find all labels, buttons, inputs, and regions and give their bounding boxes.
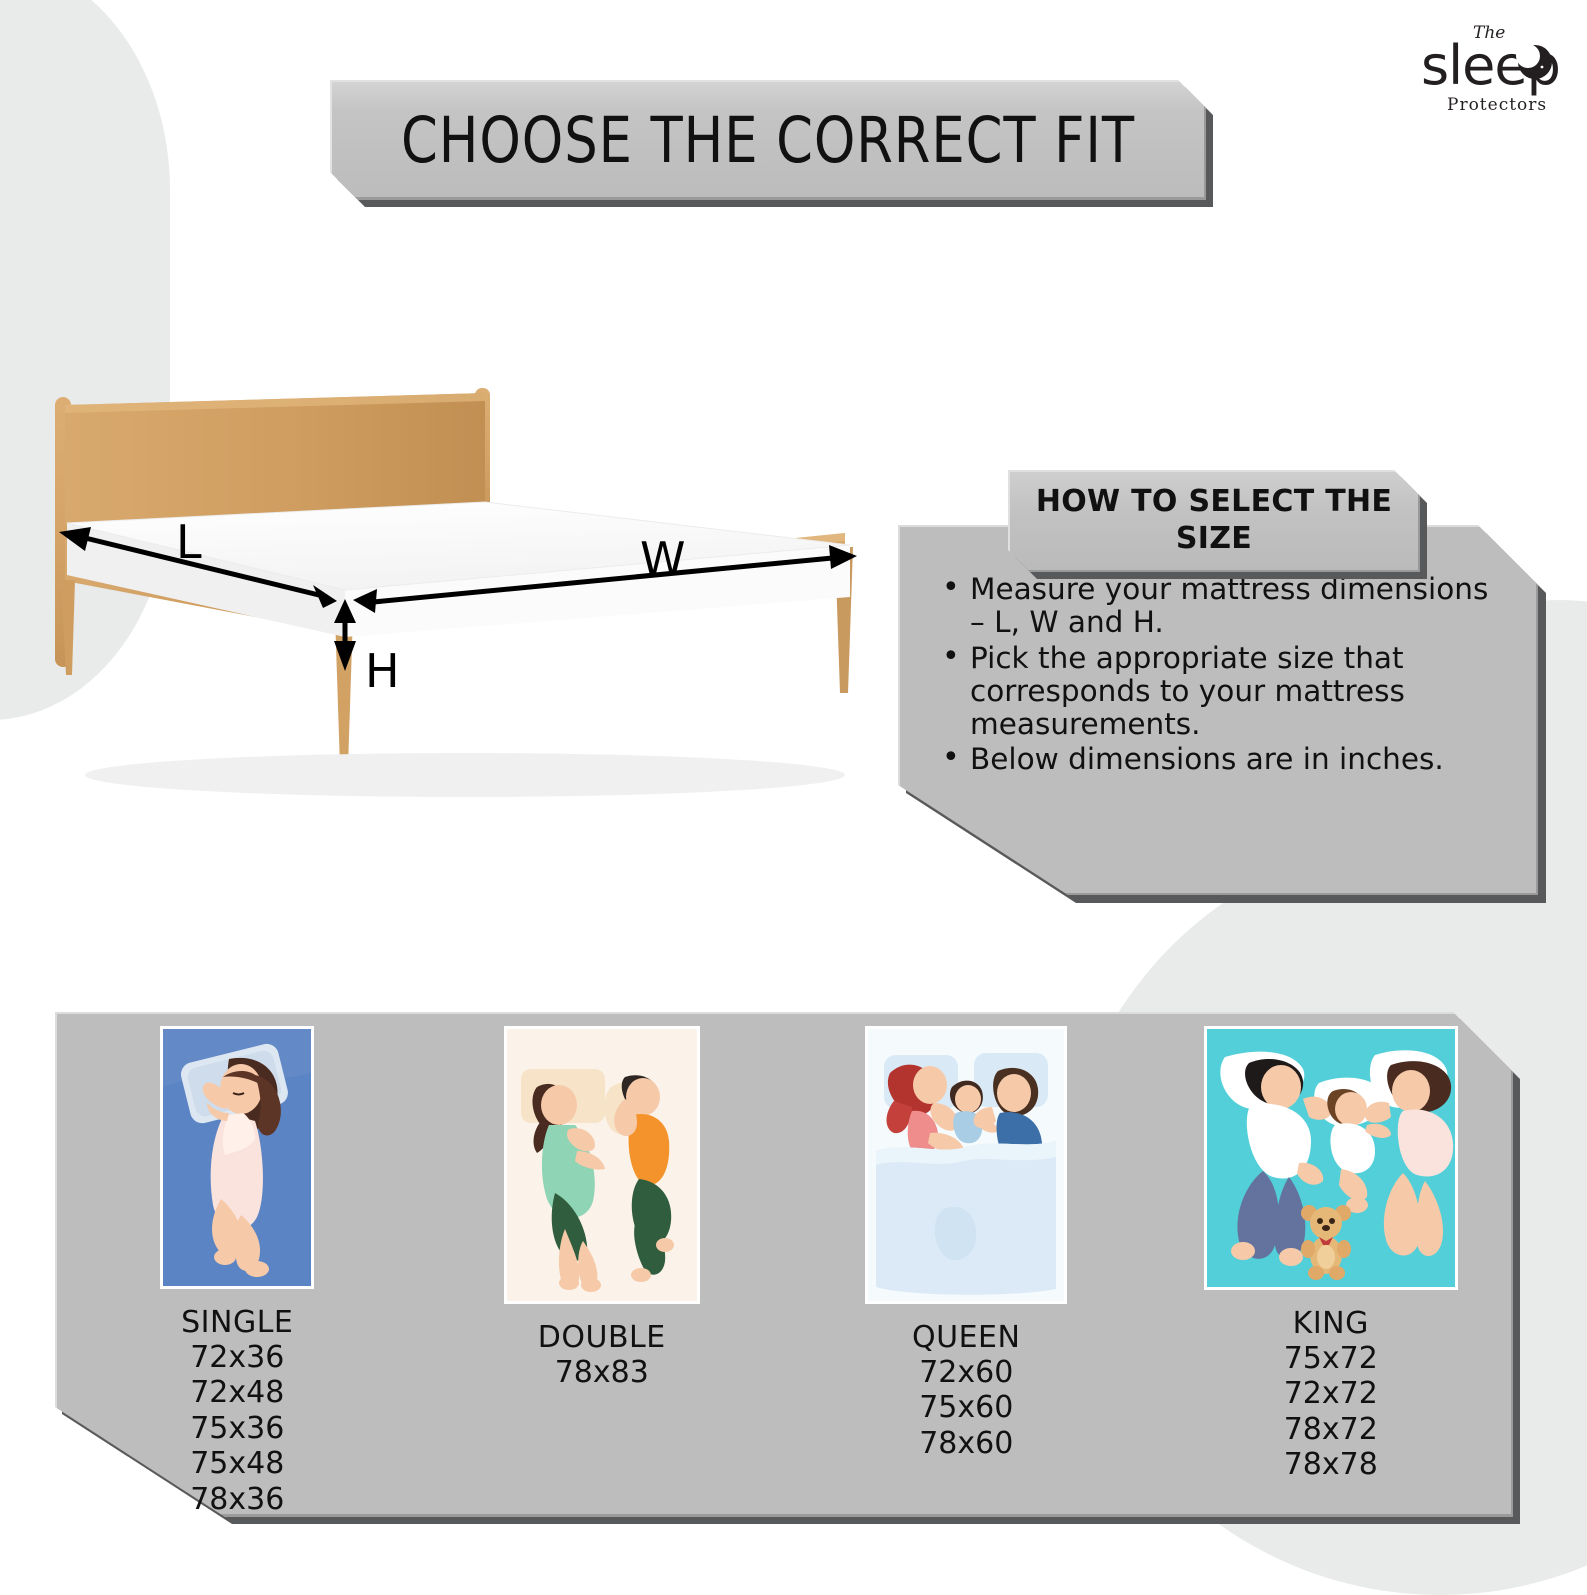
- mattress-sizes-panel: SINGLE 72x36 72x48 75x36 75x48 78x36: [55, 1012, 1513, 1517]
- dimension-value: 72x72: [1284, 1376, 1378, 1411]
- dimension-value: 78x60: [919, 1426, 1013, 1461]
- dimension-value: 72x36: [190, 1340, 284, 1375]
- how-to-bullet: Below dimensions are in inches.: [970, 743, 1502, 776]
- dimension-value: 75x72: [1284, 1341, 1378, 1376]
- single-sleeper-woman-illustration: [160, 1026, 314, 1289]
- dimension-value: 78x36: [190, 1482, 284, 1517]
- how-to-bullet: Measure your mattress dimensions – L, W …: [970, 573, 1502, 639]
- page-title-banner: CHOOSE THE CORRECT FIT: [330, 80, 1206, 200]
- queen-family-three-illustration: [865, 1026, 1067, 1304]
- bed-diagram: L W H L W H: [45, 375, 885, 845]
- dimension-value: 75x48: [190, 1446, 284, 1481]
- dimension-value: 78x83: [555, 1355, 649, 1390]
- size-dimensions: 75x72 72x72 78x72 78x78: [1284, 1341, 1378, 1483]
- bed-width-label: W: [640, 532, 685, 586]
- dimension-value: 78x78: [1284, 1447, 1378, 1482]
- dimension-value: 75x60: [919, 1390, 1013, 1425]
- king-family-teddy-illustration: [1204, 1026, 1458, 1290]
- size-dimensions: 72x36 72x48 75x36 75x48 78x36: [190, 1340, 284, 1517]
- dimension-value: 72x48: [190, 1375, 284, 1410]
- size-label: KING: [1293, 1306, 1369, 1341]
- bed-illustration-svg: L W H: [45, 375, 885, 845]
- size-dimensions: 72x60 75x60 78x60: [919, 1355, 1013, 1461]
- how-to-header-title: HOW TO SELECT THE SIZE: [1008, 470, 1420, 572]
- bed-height-label: H: [365, 644, 400, 698]
- how-to-select-panel: Measure your mattress dimensions – L, W …: [898, 525, 1538, 895]
- sleep-protectors-logo-icon: The sleep Protectors: [1395, 12, 1575, 116]
- dimension-value: 72x60: [919, 1355, 1013, 1390]
- svg-text:Protectors: Protectors: [1447, 95, 1547, 115]
- dimension-value: 78x72: [1284, 1412, 1378, 1447]
- size-option-single[interactable]: SINGLE 72x36 72x48 75x36 75x48 78x36: [55, 1012, 420, 1517]
- size-label: SINGLE: [181, 1305, 293, 1340]
- how-to-bullet: Pick the appropriate size that correspon…: [970, 642, 1502, 741]
- bed-length-label: L: [176, 515, 202, 569]
- page-title: CHOOSE THE CORRECT FIT: [361, 80, 1176, 200]
- brand-logo: The sleep Protectors: [1390, 8, 1580, 120]
- size-option-king[interactable]: KING 75x72 72x72 78x72 78x78: [1149, 1012, 1514, 1517]
- size-option-double[interactable]: DOUBLE 78x83: [420, 1012, 785, 1517]
- size-dimensions: 78x83: [555, 1355, 649, 1390]
- size-option-queen[interactable]: QUEEN 72x60 75x60 78x60: [784, 1012, 1149, 1517]
- size-label: QUEEN: [912, 1320, 1020, 1355]
- size-label: DOUBLE: [538, 1320, 666, 1355]
- how-to-select-header-banner: HOW TO SELECT THE SIZE: [1008, 470, 1420, 572]
- dimension-value: 75x36: [190, 1411, 284, 1446]
- how-to-bullet-list: Measure your mattress dimensions – L, W …: [928, 573, 1502, 779]
- sizes-grid: SINGLE 72x36 72x48 75x36 75x48 78x36: [55, 1012, 1513, 1517]
- double-sleeper-couple-illustration: [504, 1026, 700, 1304]
